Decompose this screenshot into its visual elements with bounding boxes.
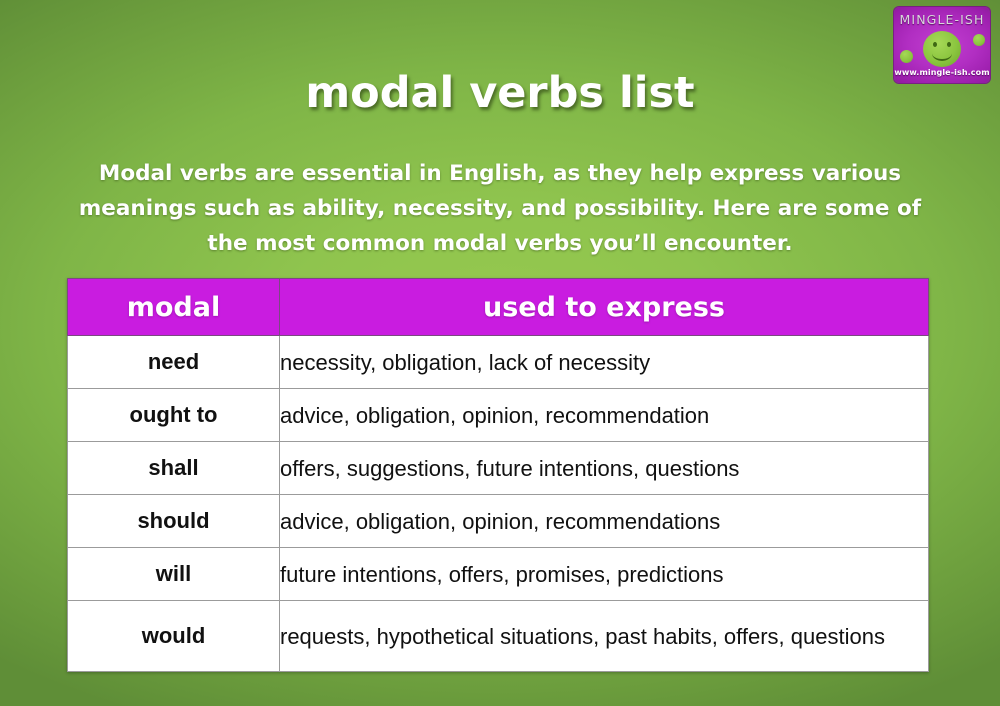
column-header-used-to-express: used to express — [280, 279, 929, 336]
column-header-modal: modal — [68, 279, 280, 336]
cell-modal: need — [68, 336, 280, 389]
table-head: modal used to express — [68, 279, 929, 336]
logo-decorative-dot-left — [900, 50, 913, 63]
cell-modal: will — [68, 548, 280, 601]
cell-express: offers, suggestions, future intentions, … — [280, 442, 929, 495]
cell-express: advice, obligation, opinion, recommendat… — [280, 389, 929, 442]
table-row: shall offers, suggestions, future intent… — [68, 442, 929, 495]
table-header-row: modal used to express — [68, 279, 929, 336]
cell-express: necessity, obligation, lack of necessity — [280, 336, 929, 389]
smiley-mouth — [932, 46, 952, 61]
table-row: will future intentions, offers, promises… — [68, 548, 929, 601]
table-row: need necessity, obligation, lack of nece… — [68, 336, 929, 389]
logo-brand-text: MINGLE-ISH — [894, 12, 990, 27]
page-title: modal verbs list — [0, 67, 1000, 119]
modal-verbs-table: modal used to express need necessity, ob… — [67, 278, 929, 672]
table-body: need necessity, obligation, lack of nece… — [68, 336, 929, 672]
table-row: ought to advice, obligation, opinion, re… — [68, 389, 929, 442]
cell-modal: ought to — [68, 389, 280, 442]
cell-modal: shall — [68, 442, 280, 495]
slide-canvas: MINGLE-ISH www.mingle-ish.com modal verb… — [0, 0, 1000, 706]
intro-paragraph: Modal verbs are essential in English, as… — [70, 156, 930, 261]
cell-express: future intentions, offers, promises, pre… — [280, 548, 929, 601]
cell-modal: would — [68, 601, 280, 672]
table-row: would requests, hypothetical situations,… — [68, 601, 929, 672]
smiley-face-icon — [923, 31, 961, 67]
logo-decorative-dot-right — [973, 34, 985, 46]
cell-modal: should — [68, 495, 280, 548]
cell-express: advice, obligation, opinion, recommendat… — [280, 495, 929, 548]
table-row: should advice, obligation, opinion, reco… — [68, 495, 929, 548]
cell-express: requests, hypothetical situations, past … — [280, 601, 929, 672]
